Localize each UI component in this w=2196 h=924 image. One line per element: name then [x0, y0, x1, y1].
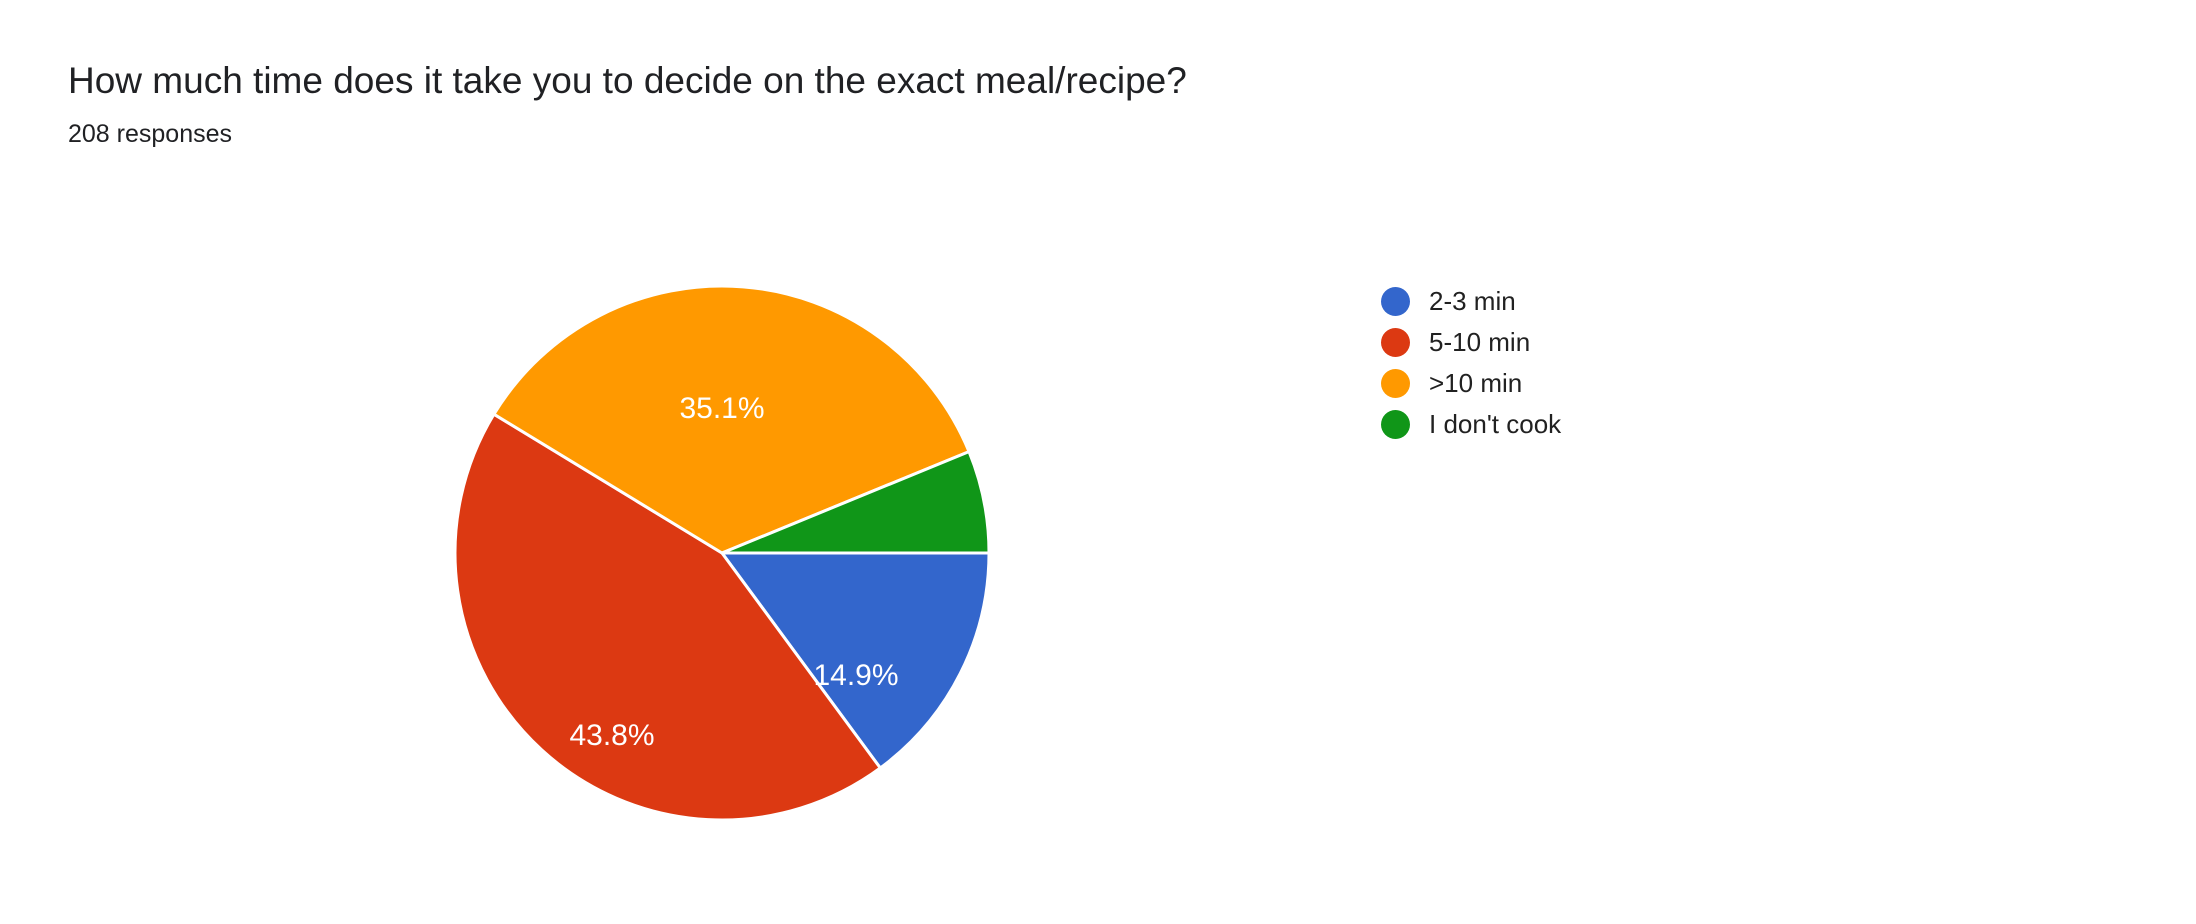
legend-item[interactable]: >10 min — [1381, 363, 1561, 404]
legend-item-label: I don't cook — [1429, 410, 1561, 439]
legend-item[interactable]: I don't cook — [1381, 404, 1561, 445]
legend-swatch-green — [1381, 410, 1410, 439]
legend-item-label: 2-3 min — [1429, 287, 1516, 316]
legend-item[interactable]: 5-10 min — [1381, 322, 1561, 363]
pie-chart-svg: 35.1%14.9%43.8% — [0, 0, 2196, 924]
legend-swatch-blue — [1381, 287, 1410, 316]
legend-swatch-red — [1381, 328, 1410, 357]
pie-chart: 35.1%14.9%43.8% 2-3 min5-10 min>10 minI … — [0, 0, 2196, 924]
chart-legend: 2-3 min5-10 min>10 minI don't cook — [1381, 281, 1561, 445]
legend-item-label: >10 min — [1429, 369, 1522, 398]
legend-swatch-orange — [1381, 369, 1410, 398]
chart-card: How much time does it take you to decide… — [0, 0, 2196, 924]
legend-item[interactable]: 2-3 min — [1381, 281, 1561, 322]
legend-item-label: 5-10 min — [1429, 328, 1530, 357]
pie-slice-group — [455, 286, 989, 820]
